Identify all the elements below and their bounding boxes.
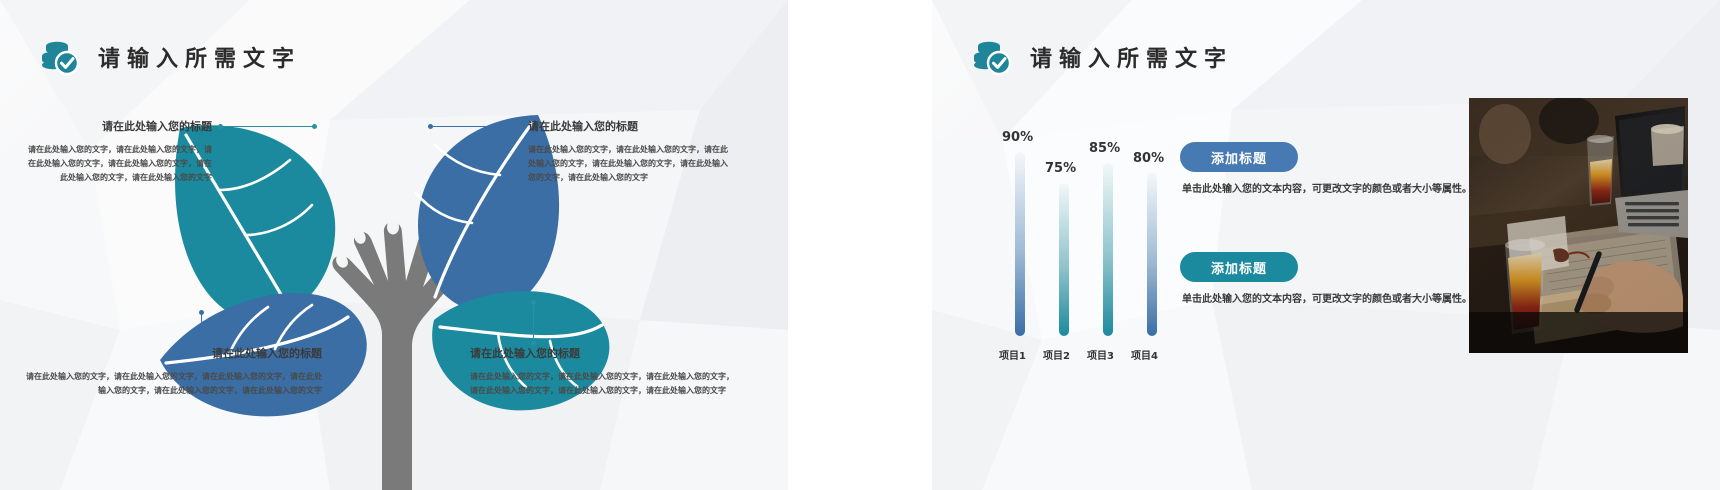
bar-value-2: 85% bbox=[1089, 141, 1120, 156]
bar-chart-plot-area: 90% 项目1 75% 项目2 85% 项目3 80% 项目4 bbox=[999, 130, 1184, 362]
connector-bottom-left bbox=[198, 310, 205, 350]
slide-left-header: 请输入所需文字 bbox=[40, 38, 301, 76]
page-title: 请输入所需文字 bbox=[1030, 41, 1233, 73]
slide-left[interactable]: 请输入所需文字 bbox=[0, 0, 788, 490]
bar-1 bbox=[1059, 183, 1069, 336]
coin-stack-check-icon bbox=[972, 38, 1014, 76]
slide-right-header: 请输入所需文字 bbox=[972, 38, 1233, 76]
bar-value-0: 90% bbox=[1002, 130, 1033, 145]
text-block-bottom-left: 请在此处输入您的标题 请在此处输入您的文字，请在此处输入您的文字，请在此处输入您… bbox=[22, 345, 322, 398]
bar-column-1 bbox=[1059, 183, 1069, 336]
block-body: 请在此处输入您的文字，请在此处输入您的文字，请在此处输入您的文字，请在此处输入您… bbox=[22, 370, 322, 398]
connector-top-left bbox=[218, 123, 318, 130]
block-title: 请在此处输入您的标题 bbox=[22, 118, 212, 134]
page-title: 请输入所需文字 bbox=[98, 41, 301, 73]
button-body-2: 单击此处输入您的文本内容，可更改文字的颜色或者大小等属性。 bbox=[1182, 290, 1472, 310]
block-body: 请在此处输入您的文字，请在此处输入您的文字，请在此处输入您的文字，请在此处输入您… bbox=[22, 143, 212, 185]
bar-column-2 bbox=[1103, 163, 1113, 336]
text-block-top-left: 请在此处输入您的标题 请在此处输入您的文字，请在此处输入您的文字，请在此处输入您… bbox=[22, 118, 212, 185]
text-block-bottom-right: 请在此处输入您的标题 请在此处输入您的文字，请在此处输入您的文字，请在此处输入您… bbox=[470, 345, 740, 398]
slide-separator bbox=[788, 0, 932, 490]
slide-right[interactable]: 请输入所需文字 90% 项目1 7 bbox=[932, 0, 1720, 490]
bar-label-2: 项目3 bbox=[1087, 347, 1114, 362]
connector-top-right bbox=[428, 123, 528, 130]
add-title-button-2[interactable]: 添加标题 bbox=[1180, 252, 1298, 282]
block-body: 请在此处输入您的文字，请在此处输入您的文字，请在此处输入您的文字，请在此处输入您… bbox=[470, 370, 740, 398]
bar-0 bbox=[1015, 152, 1025, 336]
block-body: 请在此处输入您的文字，请在此处输入您的文字，请在此处输入您的文字，请在此处输入您… bbox=[528, 143, 728, 185]
block-title: 请在此处输入您的标题 bbox=[470, 345, 740, 361]
button-body-1: 单击此处输入您的文本内容，可更改文字的颜色或者大小等属性。 bbox=[1182, 180, 1472, 200]
bar-value-3: 80% bbox=[1133, 151, 1164, 166]
block-title: 请在此处输入您的标题 bbox=[22, 345, 322, 361]
bar-chart: 90% 项目1 75% 项目2 85% 项目3 80% 项目4 bbox=[999, 130, 1184, 362]
connector-bottom-right bbox=[530, 300, 537, 348]
bar-label-1: 项目2 bbox=[1043, 347, 1070, 362]
bar-3 bbox=[1147, 173, 1157, 336]
bar-column-0 bbox=[1015, 152, 1025, 336]
office-desk-laptop-photo bbox=[1469, 98, 1688, 353]
text-block-top-right: 请在此处输入您的标题 请在此处输入您的文字，请在此处输入您的文字，请在此处输入您… bbox=[528, 118, 728, 185]
bar-2 bbox=[1103, 163, 1113, 336]
coin-stack-check-icon bbox=[40, 38, 82, 76]
bar-label-3: 项目4 bbox=[1131, 347, 1158, 362]
bar-value-1: 75% bbox=[1045, 161, 1076, 176]
block-title: 请在此处输入您的标题 bbox=[528, 118, 728, 134]
add-title-button-1[interactable]: 添加标题 bbox=[1180, 142, 1298, 172]
bar-label-0: 项目1 bbox=[999, 347, 1026, 362]
bar-column-3 bbox=[1147, 173, 1157, 336]
